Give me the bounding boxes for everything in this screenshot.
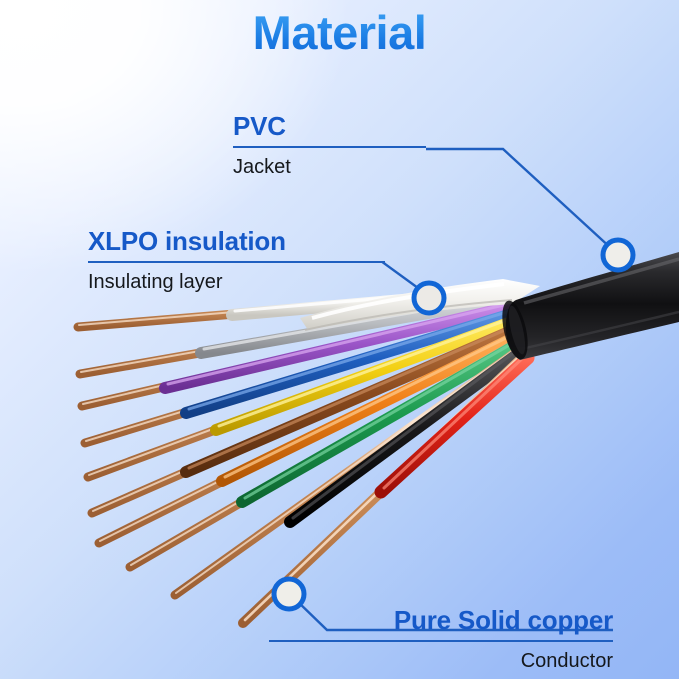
leader-line-pvc <box>426 149 613 250</box>
callout-pvc-rule <box>233 146 426 148</box>
callout-copper: Pure Solid copper Conductor <box>269 607 613 671</box>
callout-pvc-subtitle: Jacket <box>233 157 426 177</box>
callout-pvc: PVC Jacket <box>233 113 426 177</box>
callout-marker-xlpo[interactable] <box>414 283 444 313</box>
callout-xlpo-rule <box>88 261 385 263</box>
callout-xlpo-title: XLPO insulation <box>88 228 385 254</box>
callout-marker-pvc[interactable] <box>603 240 633 270</box>
callout-copper-subtitle: Conductor <box>269 651 613 671</box>
cable-illustration <box>0 0 679 679</box>
callout-marker-copper[interactable] <box>274 579 304 609</box>
callout-xlpo: XLPO insulation Insulating layer <box>88 228 385 292</box>
callout-copper-title: Pure Solid copper <box>269 607 613 633</box>
callout-pvc-title: PVC <box>233 113 426 139</box>
pvc-jacket <box>498 252 679 362</box>
callout-copper-rule <box>269 640 613 642</box>
wire-fan <box>78 288 528 623</box>
callout-xlpo-subtitle: Insulating layer <box>88 272 385 292</box>
page-title: Material <box>0 6 679 60</box>
infographic-canvas: Material PVC Jacket XLPO insulation Insu… <box>0 0 679 679</box>
